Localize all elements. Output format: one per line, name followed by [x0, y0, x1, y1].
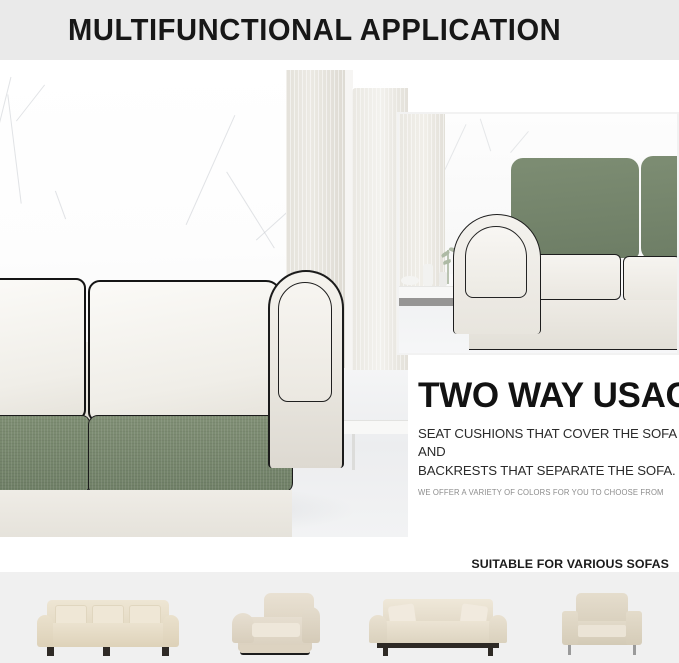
sofa-arm-right: [163, 615, 179, 647]
sofa-arm-left: [37, 615, 53, 647]
side-table-leg: [352, 434, 355, 470]
armchair-arm-right: [626, 611, 642, 645]
marble-vein: [444, 124, 466, 170]
armchair-leg: [568, 645, 571, 655]
furniture-item-slipcovered-armchair: [228, 589, 322, 657]
armchair-cushion: [252, 623, 300, 637]
sofa-seat-cushion-green: [88, 415, 293, 493]
armchair-skirt: [240, 645, 310, 655]
marble-vein: [226, 172, 275, 249]
armchair-arm-right: [302, 607, 320, 643]
sofa-arm-inner: [278, 282, 332, 402]
feature-note: WE OFFER A VARIETY OF COLORS FOR YOU TO …: [418, 488, 669, 497]
inset-console-base: [399, 298, 461, 306]
suitable-sofas-label: SUITABLE FOR VARIOUS SOFAS: [471, 557, 669, 571]
armchair-arm-left: [562, 611, 578, 645]
sofa-leg: [383, 648, 388, 656]
sofa-leg: [162, 647, 169, 656]
marble-vein: [55, 191, 66, 220]
inset-sofa-arm-inner: [465, 226, 527, 298]
feature-subtitle-line-2: BACKRESTS THAT SEPARATE THE SOFA.: [418, 462, 679, 481]
marble-vein: [16, 85, 45, 122]
sofa-leg: [47, 647, 54, 656]
sofa-back-cushion: [88, 280, 282, 422]
hero-product-photo: [0, 70, 408, 537]
feature-heading: TWO WAY USAGE: [418, 378, 679, 414]
furniture-item-two-seat-sofa-dark-base: [363, 593, 513, 657]
page-title: MULTIFUNCTIONAL APPLICATION: [68, 12, 561, 48]
sofa-seat: [43, 623, 173, 647]
sofa-arm-right: [489, 615, 507, 643]
sofa-arm-left: [369, 615, 387, 643]
inset-decor-vase: [423, 264, 433, 286]
inset-decor-vase: [439, 272, 447, 286]
sofa-leg: [488, 648, 493, 656]
marble-vein: [480, 119, 491, 152]
sofa-skirt: [0, 490, 292, 537]
feature-subtitle: SEAT CUSHIONS THAT COVER THE SOFA AND BA…: [418, 425, 679, 481]
marble-vein: [510, 131, 529, 153]
inset-decor-bowl: [401, 276, 419, 285]
feature-text-panel: TWO WAY USAGE SEAT CUSHIONS THAT COVER T…: [418, 378, 679, 497]
sofa-seat-cushion-green: [0, 415, 90, 493]
marble-vein: [186, 115, 236, 225]
marble-vein: [7, 94, 21, 203]
armchair-arm-left: [232, 613, 254, 643]
feature-subtitle-line-1: SEAT CUSHIONS THAT COVER THE SOFA AND: [418, 425, 679, 462]
sofa-seat: [377, 621, 499, 643]
inset-backrest-cover-green: [641, 156, 679, 260]
armchair-leg: [633, 645, 636, 655]
armchair-cushion: [578, 625, 626, 637]
sofa-base-frame: [377, 643, 499, 648]
sofa-back-cushion: [0, 278, 86, 420]
furniture-item-modern-square-armchair: [554, 591, 650, 657]
header-band: MULTIFUNCTIONAL APPLICATION: [0, 0, 679, 60]
furniture-item-three-seat-rolled-arm-sofa: [29, 593, 187, 657]
inset-product-photo: [397, 112, 679, 355]
suitable-sofas-strip: [0, 572, 679, 663]
inset-seat-cushion-cream: [623, 256, 679, 302]
sofa-leg: [103, 647, 110, 656]
